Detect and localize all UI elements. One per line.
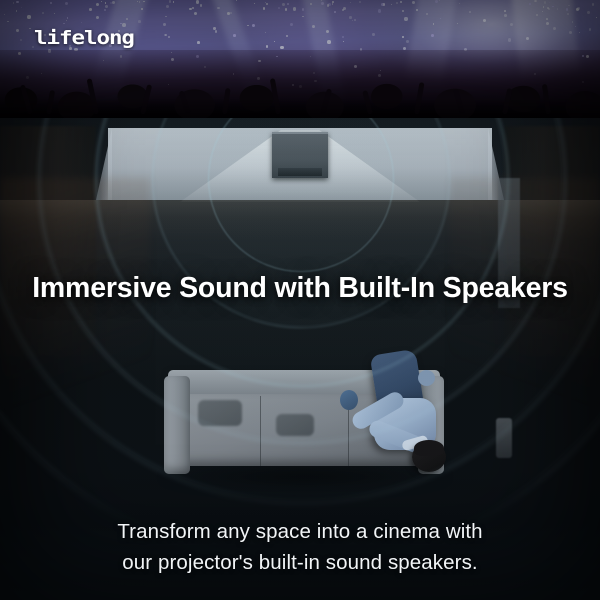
confetti-particle (457, 23, 458, 24)
confetti-particle (483, 19, 486, 22)
confetti-particle (350, 2, 351, 3)
confetti-particle (247, 25, 249, 27)
confetti-particle (50, 2, 51, 3)
confetti-particle (139, 1, 141, 3)
confetti-particle (589, 28, 591, 30)
concert-crowd-banner (0, 0, 600, 132)
confetti-particle (321, 2, 324, 5)
confetti-particle (192, 7, 194, 9)
confetti-particle (215, 30, 217, 32)
confetti-particle (312, 25, 315, 28)
confetti-particle (7, 21, 8, 22)
confetti-particle (165, 16, 167, 18)
confetti-particle (596, 17, 597, 18)
confetti-particle (402, 36, 404, 38)
sofa-arm-left (164, 376, 190, 474)
confetti-particle (504, 14, 507, 17)
confetti-particle (412, 1, 415, 4)
confetti-particle (508, 38, 511, 41)
confetti-particle (546, 18, 548, 20)
confetti-particle (189, 8, 192, 11)
confetti-particle (431, 34, 434, 37)
person-hand-right (418, 370, 435, 386)
confetti-particle (280, 46, 284, 50)
confetti-particle (426, 13, 428, 15)
confetti-particle (575, 26, 576, 27)
confetti-particle (122, 23, 126, 27)
confetti-particle (27, 15, 31, 19)
confetti-particle (526, 37, 529, 40)
confetti-particle (227, 12, 230, 15)
confetti-particle (567, 13, 569, 15)
confetti-particle (213, 27, 216, 30)
confetti-particle (16, 10, 18, 12)
confetti-particle (542, 11, 543, 12)
confetti-particle (334, 11, 336, 13)
confetti-particle (378, 9, 382, 13)
confetti-particle (326, 30, 329, 33)
confetti-particle (287, 3, 289, 5)
confetti-particle (592, 3, 595, 6)
confetti-particle (535, 0, 537, 2)
confetti-particle (236, 0, 237, 1)
confetti-particle (587, 11, 590, 14)
confetti-particle (20, 39, 22, 41)
confetti-particle (439, 0, 440, 1)
confetti-particle (391, 4, 392, 5)
confetti-particle (290, 23, 293, 26)
confetti-particle (105, 5, 108, 8)
person-hand-left (340, 390, 358, 410)
confetti-particle (569, 31, 572, 34)
confetti-particle (274, 41, 275, 42)
confetti-particle (402, 10, 404, 12)
confetti-particle (286, 35, 288, 37)
confetti-particle (143, 1, 144, 2)
confetti-particle (327, 4, 330, 7)
person-watching (330, 354, 470, 484)
confetti-particle (254, 3, 255, 4)
confetti-particle (383, 3, 386, 6)
confetti-particle (67, 17, 69, 19)
sofa-pillow (276, 414, 314, 436)
confetti-particle (459, 3, 460, 4)
confetti-particle (168, 36, 170, 38)
confetti-particle (21, 7, 23, 9)
confetti-particle (396, 2, 398, 4)
confetti-particle (552, 6, 553, 7)
confetti-particle (404, 17, 407, 20)
confetti-particle (553, 27, 557, 31)
page-title: Immersive Sound with Built-In Speakers (0, 272, 600, 305)
caption-line-2: our projector's built-in sound speakers. (0, 547, 600, 578)
confetti-particle (81, 22, 82, 23)
confetti-particle (4, 14, 5, 15)
confetti-particle (546, 22, 549, 25)
confetti-particle (16, 1, 18, 3)
confetti-particle (265, 32, 266, 33)
confetti-particle (217, 7, 219, 9)
confetti-particle (252, 24, 255, 27)
confetti-particle (349, 16, 351, 18)
confetti-particle (89, 8, 92, 11)
promo-banner-image: lifelong Immersive Sound with Built-In S… (0, 0, 600, 600)
confetti-particle (327, 40, 331, 44)
confetti-particle (406, 40, 409, 43)
confetti-particle (29, 28, 31, 30)
confetti-particle (435, 0, 438, 3)
confetti-particle (96, 16, 99, 19)
confetti-particle (343, 7, 346, 10)
confetti-particle (200, 4, 202, 6)
confetti-particle (141, 8, 144, 11)
confetti-particle (285, 8, 288, 11)
confetti-particle (400, 1, 402, 3)
confetti-particle (126, 18, 129, 21)
confetti-particle (557, 8, 558, 9)
confetti-particle (566, 8, 569, 11)
confetti-particle (302, 16, 303, 17)
confetti-particle (282, 3, 285, 6)
caption-text: Transform any space into a cinema with o… (0, 516, 600, 578)
confetti-particle (63, 23, 64, 24)
confetti-particle (572, 21, 574, 23)
confetti-particle (101, 1, 103, 3)
confetti-particle (42, 12, 44, 14)
confetti-particle (310, 3, 312, 5)
confetti-particle (549, 2, 550, 3)
confetti-particle (579, 32, 581, 34)
confetti-particle (66, 20, 67, 21)
confetti-particle (266, 45, 268, 47)
confetti-particle (233, 34, 236, 37)
confetti-particle (112, 1, 115, 4)
confetti-particle (194, 12, 197, 15)
confetti-particle (544, 1, 547, 4)
confetti-particle (293, 7, 296, 10)
confetti-particle (469, 11, 471, 13)
confetti-particle (166, 5, 169, 8)
confetti-particle (416, 9, 419, 12)
confetti-particle (163, 23, 166, 26)
confetti-particle (354, 19, 356, 21)
confetti-particle (504, 10, 506, 12)
confetti-particle (576, 8, 579, 11)
sofa-seam (260, 396, 261, 466)
confetti-particle (343, 41, 344, 42)
confetti-particle (164, 34, 166, 36)
confetti-particle (169, 0, 171, 2)
confetti-particle (543, 6, 544, 7)
confetti-particle (440, 18, 441, 19)
confetti-particle (13, 2, 15, 4)
confetti-particle (266, 3, 268, 5)
confetti-particle (342, 36, 345, 39)
projector-lens (278, 168, 322, 176)
confetti-particle (65, 2, 68, 5)
brand-logo: lifelong (34, 28, 134, 50)
confetti-particle (372, 33, 375, 36)
confetti-particle (173, 1, 174, 2)
confetti-particle (278, 7, 280, 9)
caption-line-1: Transform any space into a cinema with (0, 516, 600, 547)
confetti-particle (105, 2, 107, 4)
confetti-particle (332, 3, 334, 5)
confetti-particle (54, 13, 56, 15)
floor-lamp (496, 418, 512, 458)
confetti-particle (536, 14, 538, 16)
confetti-particle (529, 3, 531, 5)
confetti-particle (263, 7, 265, 9)
confetti-particle (359, 1, 361, 3)
confetti-particle (510, 23, 513, 26)
confetti-particle (16, 29, 19, 32)
confetti-particle (104, 9, 106, 11)
confetti-particle (110, 2, 112, 4)
confetti-particle (196, 0, 200, 4)
confetti-particle (197, 41, 200, 44)
confetti-particle (138, 20, 141, 23)
sofa-pillow (198, 400, 242, 426)
person-hair (414, 440, 444, 456)
confetti-particle (302, 8, 305, 11)
confetti-particle (568, 5, 570, 7)
confetti-particle (433, 23, 435, 25)
confetti-particle (96, 3, 99, 6)
